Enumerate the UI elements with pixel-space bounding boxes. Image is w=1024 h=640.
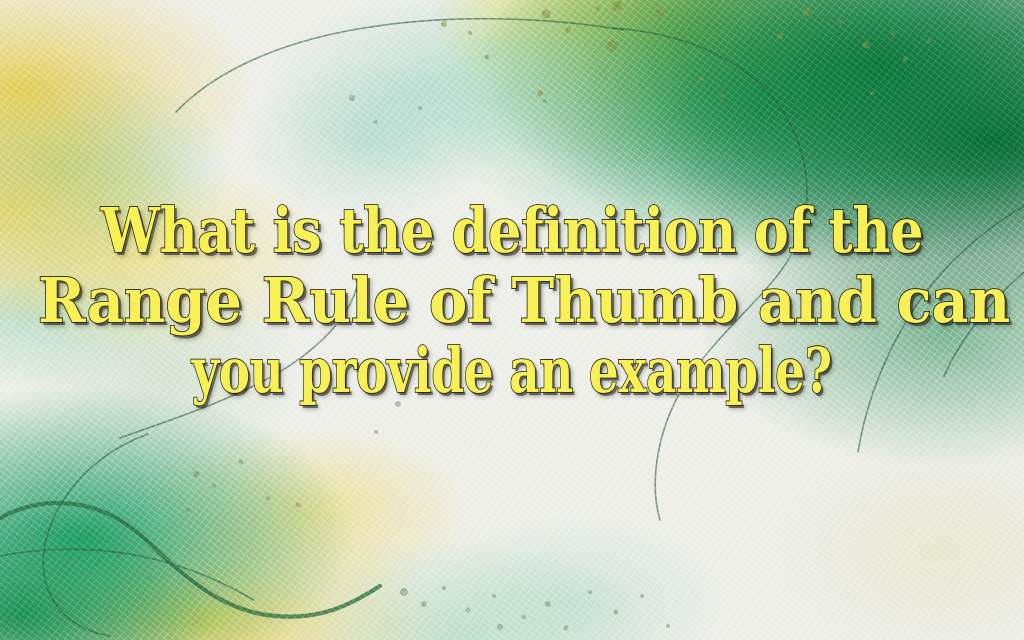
headline-line-3: you provide an example? [192,336,832,406]
page-title: What is the definition of the Range Rule… [0,196,1024,406]
headline-line-2: Range Rule of Thumb and can [38,266,1010,336]
watercolor-question-banner: What is the definition of the Range Rule… [0,0,1024,640]
headline-line-1: What is the definition of the [101,196,923,266]
